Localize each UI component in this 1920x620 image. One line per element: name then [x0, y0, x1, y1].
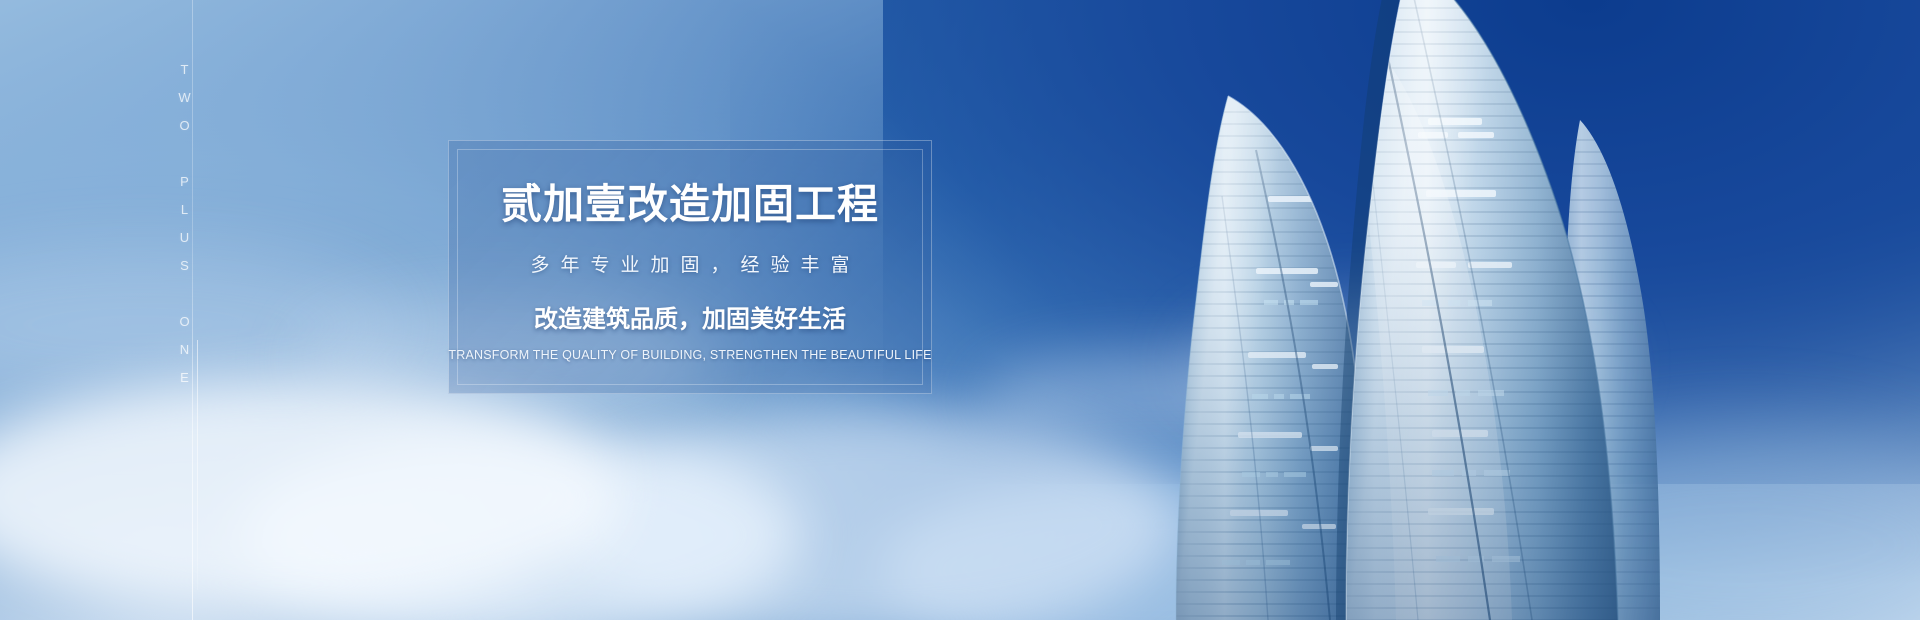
- headline-subtitle: 多年专业加固，经验丰富: [519, 250, 860, 277]
- headline-tagline: 改造建筑品质，加固美好生活: [534, 299, 846, 334]
- brand-vertical-text: TWO PLUS ONE: [178, 62, 191, 398]
- headline-english-tagline: TRANSFORM THE QUALITY OF BUILDING, STREN…: [448, 348, 931, 362]
- headline-panel: 贰加壹改造加固工程 多年专业加固，经验丰富 改造建筑品质，加固美好生活 TRAN…: [448, 140, 932, 394]
- brand-vertical-block: TWO PLUS ONE: [178, 62, 218, 542]
- banner-stage: TWO PLUS ONE 贰加壹改造加固工程 多年专业加固，经验丰富 改造建筑品…: [0, 0, 1920, 620]
- brand-accent-line: [197, 340, 198, 590]
- headline-title: 贰加壹改造加固工程: [501, 183, 879, 226]
- headline-panel-content: 贰加壹改造加固工程 多年专业加固，经验丰富 改造建筑品质，加固美好生活 TRAN…: [449, 141, 931, 393]
- skyscrapers-image: [1160, 0, 1920, 620]
